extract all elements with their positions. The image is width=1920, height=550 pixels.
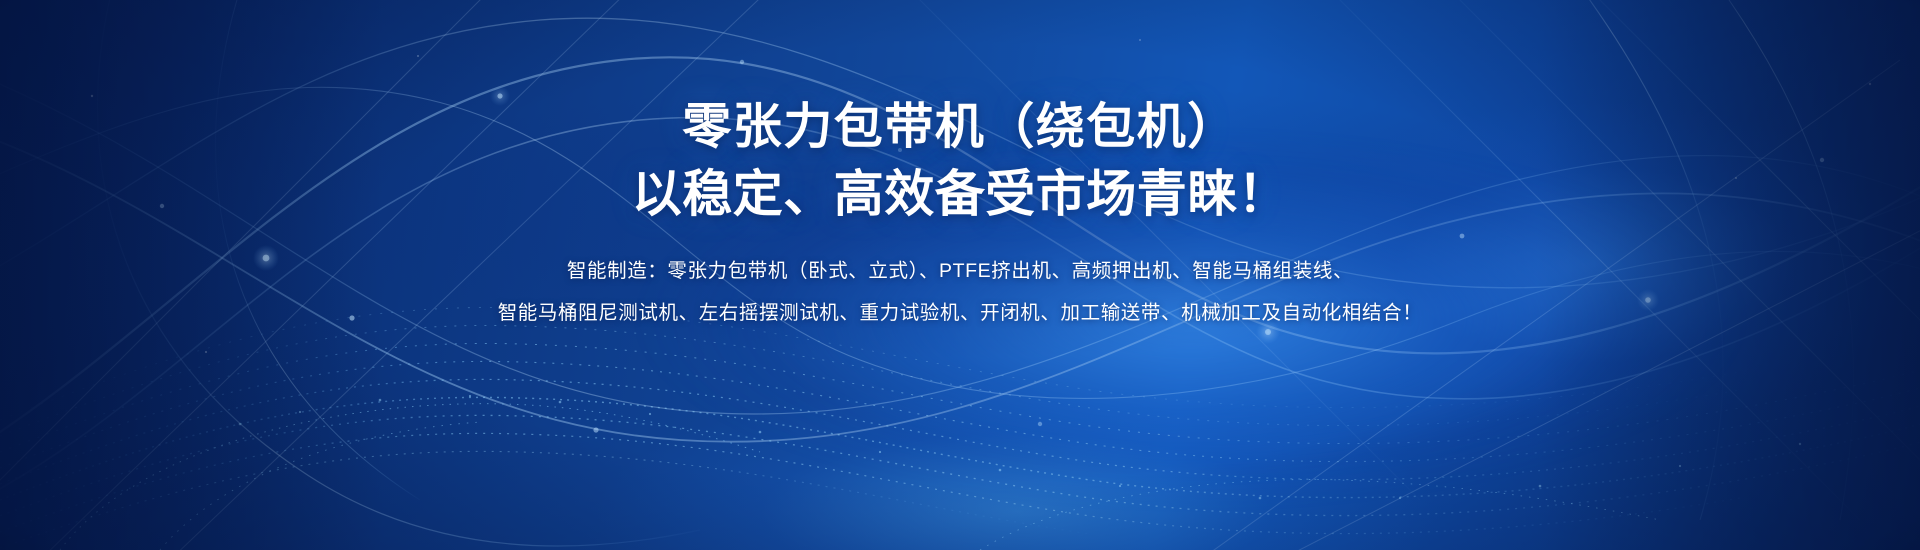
subcopy-line-2: 智能马桶阻尼测试机、左右摇摆测试机、重力试验机、开闭机、加工输送带、机械加工及自… bbox=[498, 292, 1423, 334]
subcopy-block: 智能制造：零张力包带机（卧式、立式）、PTFE挤出机、高频押出机、智能马桶组装线… bbox=[498, 250, 1423, 334]
banner-content: 零张力包带机（绕包机） 以稳定、高效备受市场青睐！ 智能制造：零张力包带机（卧式… bbox=[0, 0, 1920, 550]
headline-line-2: 以稳定、高效备受市场青睐！ bbox=[632, 164, 1289, 224]
hero-banner: 零张力包带机（绕包机） 以稳定、高效备受市场青睐！ 智能制造：零张力包带机（卧式… bbox=[0, 0, 1920, 550]
headline-line-1: 零张力包带机（绕包机） bbox=[682, 97, 1238, 157]
subcopy-line-1: 智能制造：零张力包带机（卧式、立式）、PTFE挤出机、高频押出机、智能马桶组装线… bbox=[498, 250, 1423, 292]
